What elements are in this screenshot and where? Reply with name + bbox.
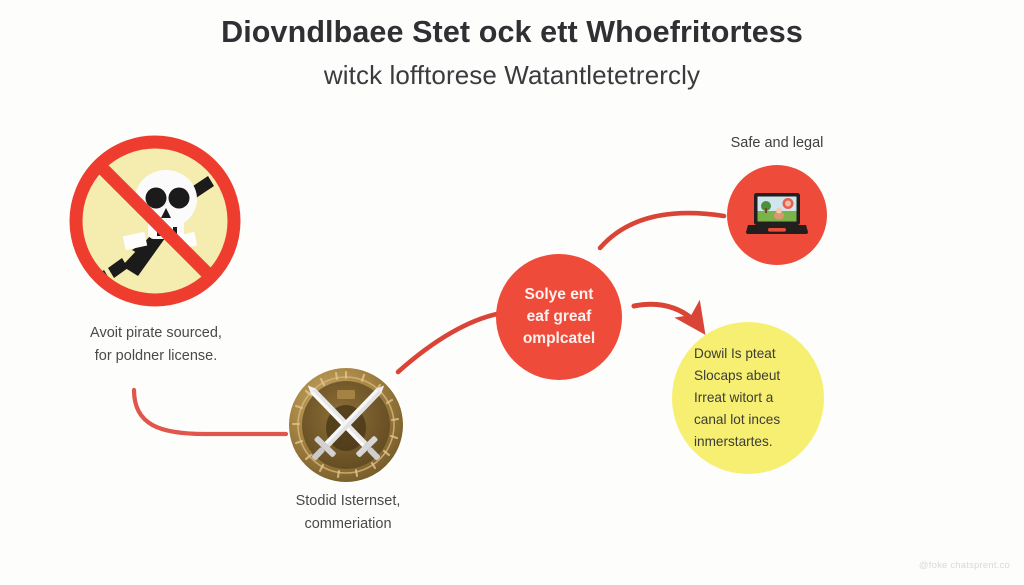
caption-prohibition: Avoit pirate sourced, for poldner licens… — [40, 322, 272, 369]
watermark: @foke chatsprent.co — [919, 560, 1010, 571]
connector-center-to-laptop — [600, 213, 724, 248]
connector-center-to-yellow — [634, 304, 702, 330]
node-coin[interactable] — [287, 366, 405, 484]
node-prohibition[interactable] — [62, 128, 248, 314]
laptop-icon — [746, 191, 808, 239]
connector-coin-to-center — [398, 314, 497, 372]
node-center-bubble[interactable]: Solye ent eaf greaf omplcatel — [496, 254, 622, 380]
center-bubble-text: Solye ent eaf greaf omplcatel — [517, 284, 601, 350]
node-yellow-bubble[interactable]: Dowil Is pteat Slocaps abeut Irreat wito… — [672, 322, 824, 474]
connector-prohibition-to-coin — [134, 390, 286, 434]
caption-coin: Stodid Isternset, commeriation — [250, 490, 446, 537]
bronze-medallion-crossed-swords-icon — [287, 366, 405, 484]
node-laptop-bubble[interactable] — [727, 165, 827, 265]
yellow-bubble-text: Dowil Is pteat Slocaps abeut Irreat wito… — [684, 343, 812, 453]
label-safe-and-legal: Safe and legal — [675, 135, 879, 151]
infographic-canvas: Diovndlbaee Stet ock ett Whoefritortess … — [0, 0, 1024, 585]
no-piracy-sign-icon — [62, 128, 248, 314]
